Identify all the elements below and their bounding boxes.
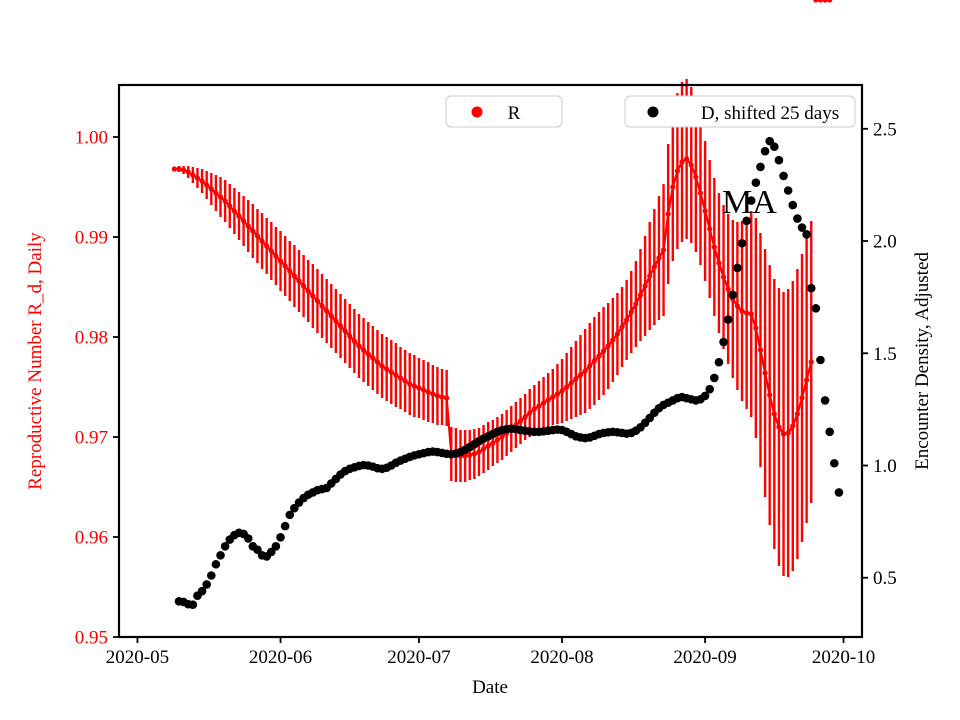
- right-y-axis-title: Encounter Density, Adjusted: [912, 252, 933, 470]
- legend-d[interactable]: D, shifted 25 days: [625, 96, 855, 127]
- x-tick-label: 2020-09: [673, 647, 736, 668]
- left-tick-label: 0.96: [75, 528, 108, 549]
- left-y-axis-title: Reproductive Number R_d, Daily: [25, 232, 46, 490]
- legend-r-box: [446, 96, 562, 127]
- right-tick-label: 2.0: [873, 232, 897, 253]
- left-tick-label: 1.00: [75, 128, 108, 149]
- right-tick-label: 0.5: [873, 568, 897, 589]
- x-tick-label: 2020-07: [387, 647, 450, 668]
- chart-svg: 1.000.990.980.970.960.952.52.01.51.00.52…: [0, 0, 960, 720]
- x-tick-label: 2020-05: [106, 647, 169, 668]
- right-tick-label: 1.5: [873, 344, 897, 365]
- legend-r-label: R: [508, 103, 521, 124]
- left-tick-label: 0.99: [75, 228, 108, 249]
- legend-d-marker-icon: [648, 107, 659, 118]
- x-axis-title: Date: [472, 677, 508, 698]
- legend-r[interactable]: R: [446, 96, 562, 127]
- right-tick-label: 2.5: [873, 119, 897, 140]
- x-tick-label: 2020-10: [812, 647, 875, 668]
- left-tick-label: 0.95: [75, 628, 108, 649]
- left-tick-label: 0.97: [75, 428, 108, 449]
- x-tick-label: 2020-08: [530, 647, 593, 668]
- chart-figure: 1.000.990.980.970.960.952.52.01.51.00.52…: [0, 0, 960, 720]
- ma-annotation: MA: [722, 184, 777, 221]
- legend-d-label: D, shifted 25 days: [701, 103, 839, 124]
- left-tick-label: 0.98: [75, 328, 108, 349]
- right-tick-label: 1.0: [873, 456, 897, 477]
- x-tick-label: 2020-06: [249, 647, 312, 668]
- legend-r-marker-icon: [472, 107, 483, 118]
